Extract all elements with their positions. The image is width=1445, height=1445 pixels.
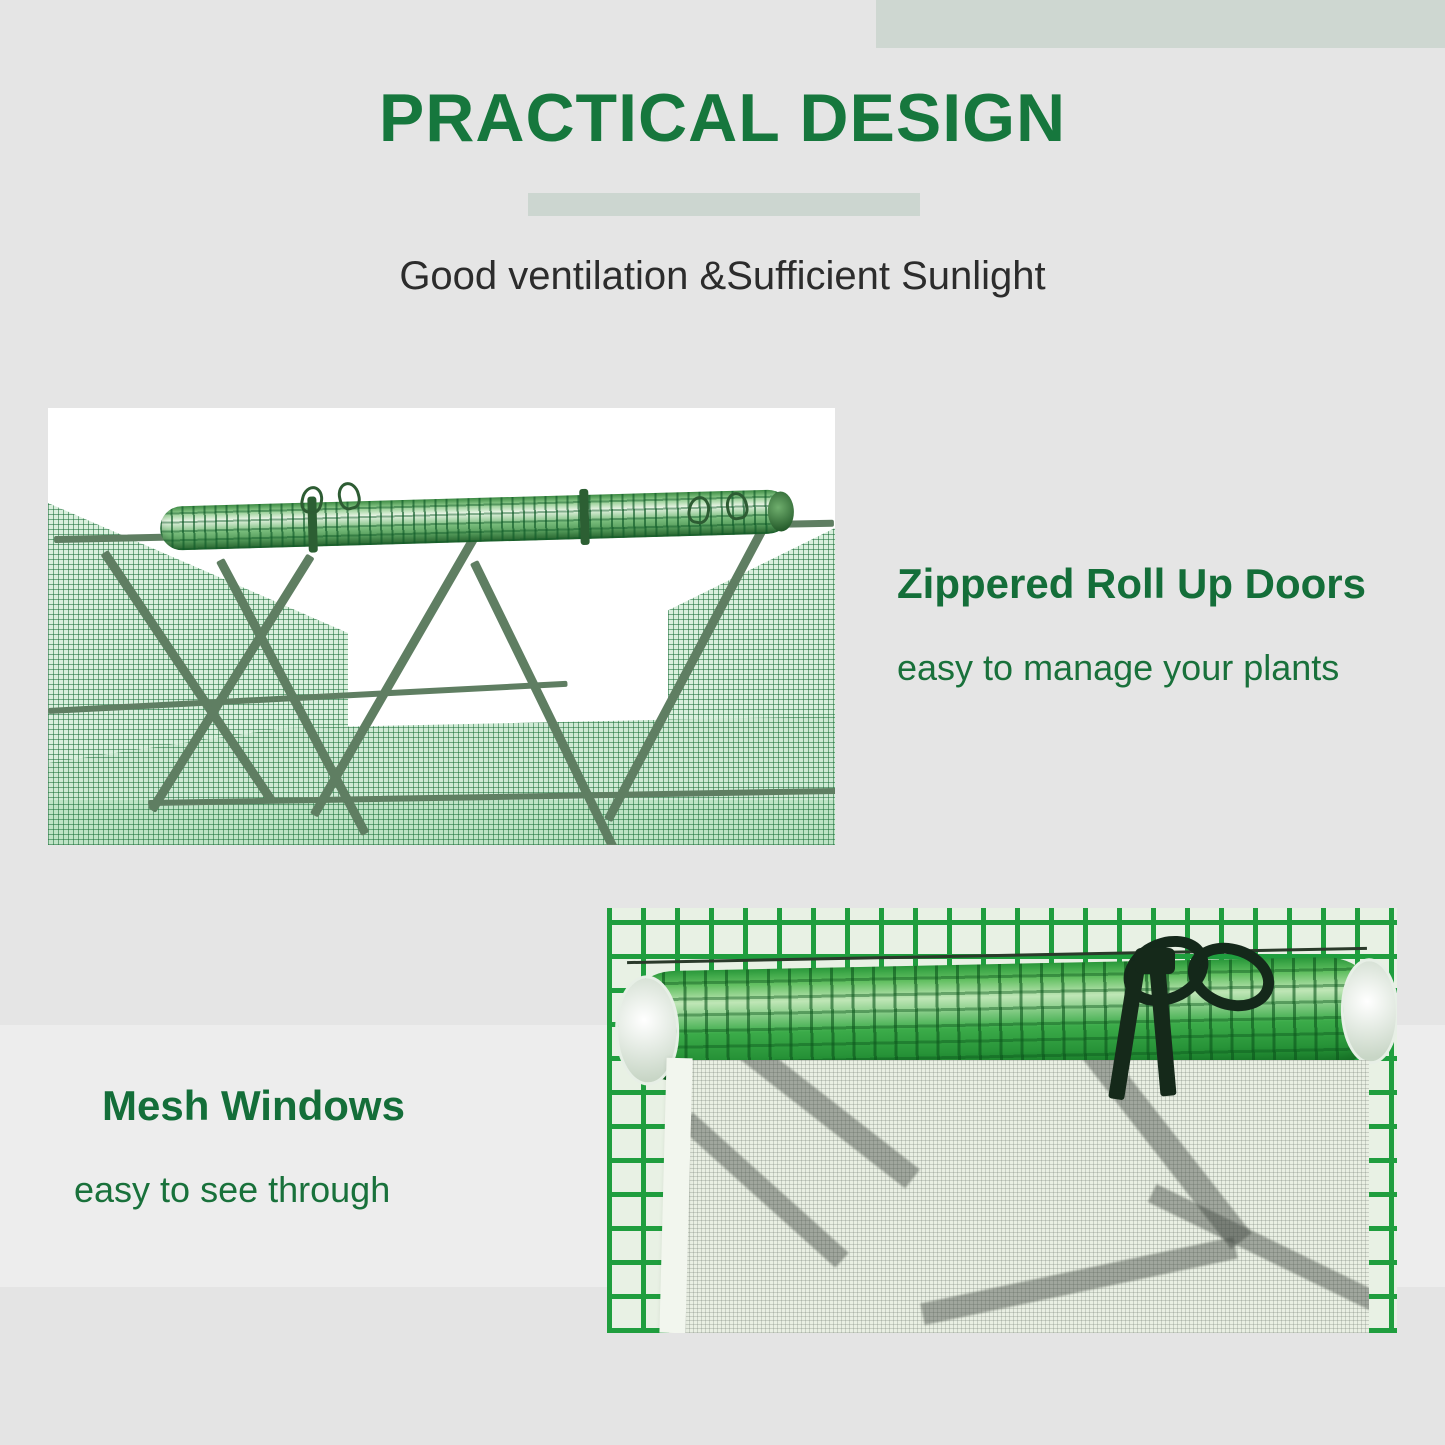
title-divider-bar xyxy=(528,193,920,216)
corner-accent-block xyxy=(876,0,1445,48)
feature-subtext-zippered-roll-up-doors: easy to manage your plants xyxy=(897,650,1339,686)
feature-subtext-mesh-windows: easy to see through xyxy=(74,1172,390,1208)
feature-image-mesh-windows xyxy=(607,908,1397,1333)
feature-heading-mesh-windows: Mesh Windows xyxy=(102,1085,405,1127)
greenhouse-base-strip xyxy=(48,800,835,845)
feature-image-zippered-roll-up-doors xyxy=(48,408,835,845)
mesh-screen-panel xyxy=(669,1060,1369,1333)
page-subtitle: Good ventilation &Sufficient Sunlight xyxy=(0,252,1445,300)
page-title: PRACTICAL DESIGN xyxy=(0,84,1445,152)
ribbon-knot xyxy=(1135,948,1175,974)
mesh-texture xyxy=(48,800,835,845)
tube-strap-right xyxy=(579,489,590,545)
feature-heading-zippered-roll-up-doors: Zippered Roll Up Doors xyxy=(897,563,1366,605)
